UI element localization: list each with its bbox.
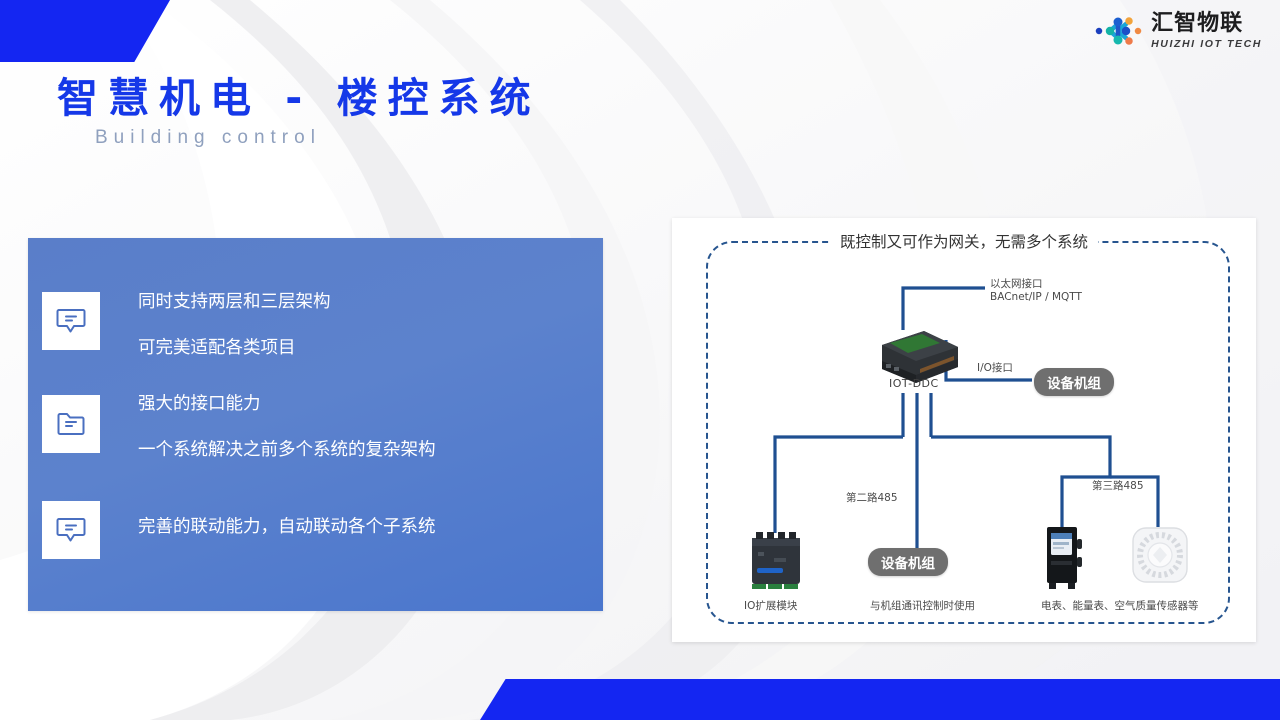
bus-2-label: 第二路485	[846, 490, 898, 505]
io-port-label: I/O接口	[977, 360, 1013, 375]
ethernet-label-line2: BACnet/IP / MQTT	[990, 291, 1082, 304]
bus-3-label: 第三路485	[1092, 478, 1144, 493]
controller-name-label: IOT-DDC	[889, 377, 939, 390]
equipment-unit-pill: 设备机组	[868, 548, 948, 576]
slide-root: 智慧机电 - 楼控系统 Building control 汇智物联 HUIZHI…	[0, 0, 1280, 720]
unit-usage-label: 与机组通讯控制时使用	[870, 598, 975, 613]
ethernet-port-label: 以太网接口 BACnet/IP / MQTT	[990, 278, 1082, 304]
electric-meter	[1040, 525, 1086, 591]
ethernet-label-line1: 以太网接口	[990, 278, 1082, 291]
air-quality-sensor	[1130, 525, 1190, 585]
meters-label: 电表、能量表、空气质量传感器等	[1041, 598, 1199, 613]
io-module-label: IO扩展模块	[744, 598, 797, 613]
io-expansion-module	[748, 530, 804, 592]
equipment-unit-pill: 设备机组	[1034, 368, 1114, 396]
